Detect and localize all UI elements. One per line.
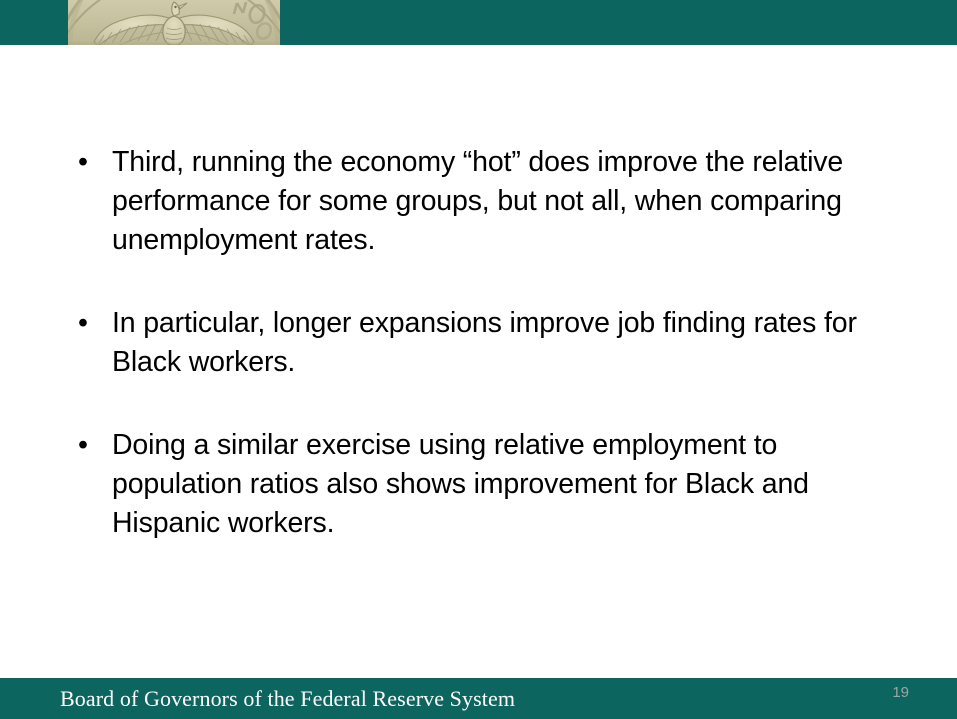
- federal-reserve-eagle-emblem-icon: [68, 0, 280, 46]
- slide-body: • Third, running the economy “hot” does …: [0, 45, 957, 678]
- bullet-item-3: • Doing a similar exercise using relativ…: [74, 426, 884, 543]
- bullet-marker-icon: •: [78, 143, 98, 182]
- bullet-marker-icon: •: [78, 304, 98, 343]
- footer-organization-title: Board of Governors of the Federal Reserv…: [60, 685, 515, 713]
- bullet-item-2: • In particular, longer expansions impro…: [74, 304, 884, 382]
- bullet-item-1: • Third, running the economy “hot” does …: [74, 143, 884, 260]
- slide-page-number: 19: [892, 683, 909, 703]
- bullet-text-3: Doing a similar exercise using relative …: [112, 426, 884, 543]
- bullet-list: • Third, running the economy “hot” does …: [74, 143, 884, 543]
- bullet-text-1: Third, running the economy “hot” does im…: [112, 143, 884, 260]
- bullet-text-2: In particular, longer expansions improve…: [112, 304, 884, 382]
- footer-band: Board of Governors of the Federal Reserv…: [0, 678, 957, 719]
- header-band: [0, 0, 957, 45]
- bullet-marker-icon: •: [78, 426, 98, 465]
